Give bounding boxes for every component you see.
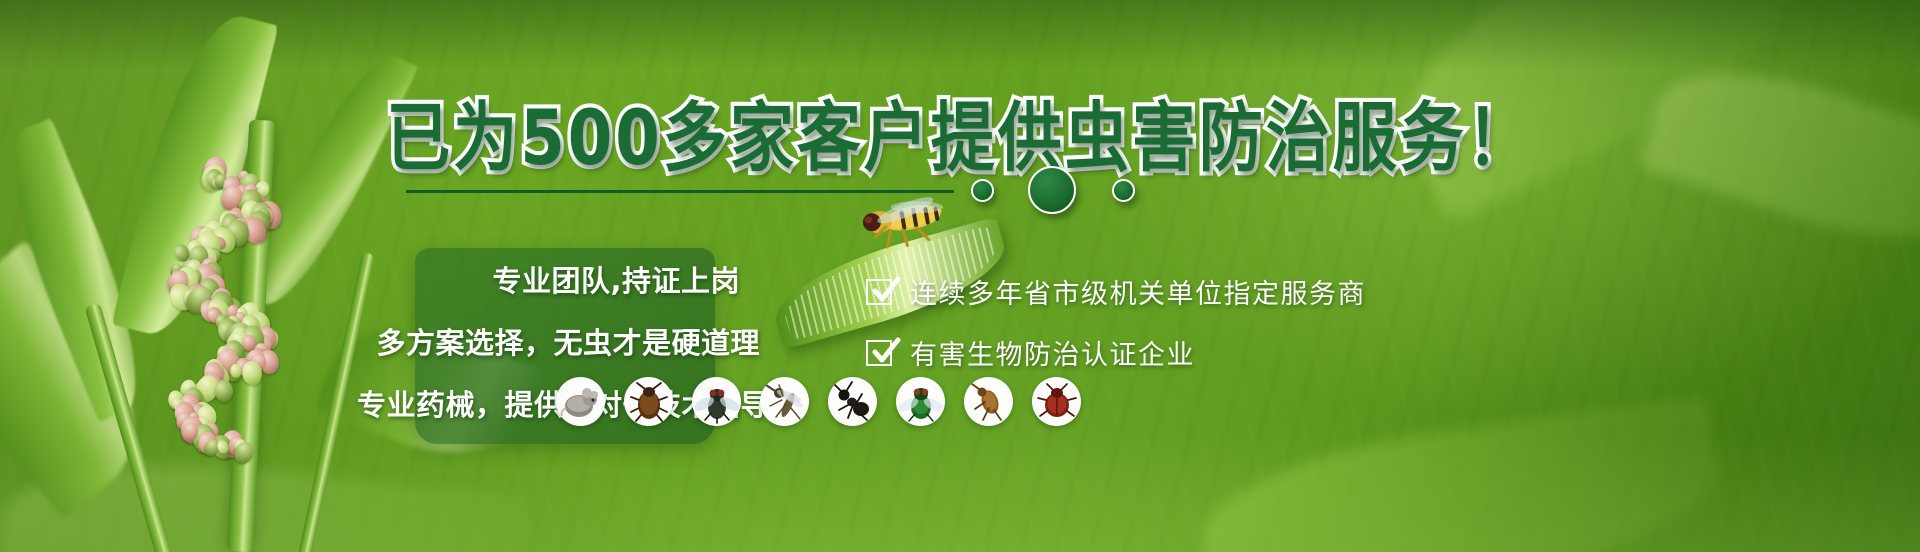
flower-bud xyxy=(214,379,234,403)
list-item: 连续多年省市级机关单位指定服务商 xyxy=(866,272,1566,311)
fly-icon[interactable] xyxy=(692,377,741,426)
bedbug-icon[interactable] xyxy=(1032,377,1081,426)
checkbox-checked-icon xyxy=(866,277,896,307)
checkbox-checked-icon xyxy=(866,338,896,368)
small-dot-left xyxy=(971,179,994,202)
promo-banner: 已为500多家客户提供虫害防治服务！ 专业团队,持证上岗 多方案选择，无虫才是硬… xyxy=(0,0,1920,552)
pest-icon-row xyxy=(556,377,1081,426)
decorative-divider-row xyxy=(0,160,1920,220)
bullet-label: 连续多年省市级机关单位指定服务商 xyxy=(910,272,1366,311)
flea-icon[interactable] xyxy=(964,377,1013,426)
blowfly-icon[interactable] xyxy=(896,377,945,426)
ant-icon[interactable] xyxy=(828,377,877,426)
bullet-label: 有害生物防治认证企业 xyxy=(910,333,1195,372)
cockroach-icon[interactable] xyxy=(624,377,673,426)
mosquito-icon[interactable] xyxy=(760,377,809,426)
horizontal-rule xyxy=(406,190,954,193)
slogan-line-2: 多方案选择，无虫才是硬道理 xyxy=(376,320,760,362)
small-dot-right xyxy=(1112,179,1135,202)
mouse-icon[interactable] xyxy=(556,377,605,426)
feature-bullet-list: 连续多年省市级机关单位指定服务商 有害生物防治认证企业 xyxy=(866,272,1566,372)
slogan-line-1: 专业团队,持证上岗 xyxy=(492,258,740,300)
list-item: 有害生物防治认证企业 xyxy=(866,333,1566,372)
large-dot-center xyxy=(1028,166,1076,214)
